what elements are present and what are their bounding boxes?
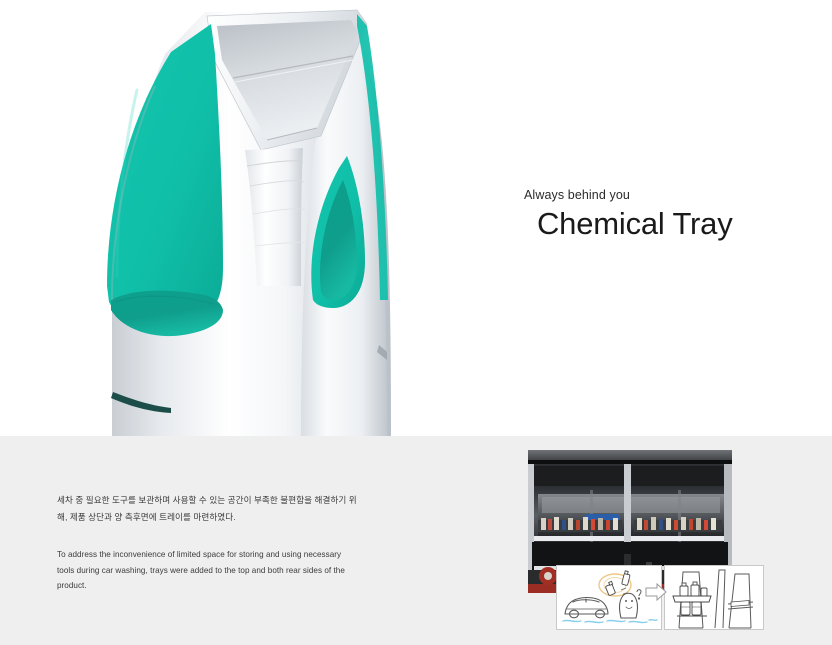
transition-arrow-icon bbox=[645, 583, 667, 601]
description-block: 세차 중 필요한 도구를 보관하며 사용할 수 있는 공간이 부족한 불편함을 … bbox=[57, 492, 357, 594]
solution-sketch-panel bbox=[664, 565, 764, 630]
description-english: To address the inconvenience of limited … bbox=[57, 547, 357, 594]
kicker-text: Always behind you bbox=[524, 188, 814, 203]
description-korean: 세차 중 필요한 도구를 보관하며 사용할 수 있는 공간이 부족한 불편함을 … bbox=[57, 492, 357, 525]
headline-block: Always behind you Chemical Tray bbox=[524, 188, 814, 243]
page-title: Chemical Tray bbox=[524, 205, 814, 243]
presentation-slide: Always behind you Chemical Tray 세차 중 필요한… bbox=[0, 0, 832, 645]
product-render-image bbox=[95, 0, 415, 436]
